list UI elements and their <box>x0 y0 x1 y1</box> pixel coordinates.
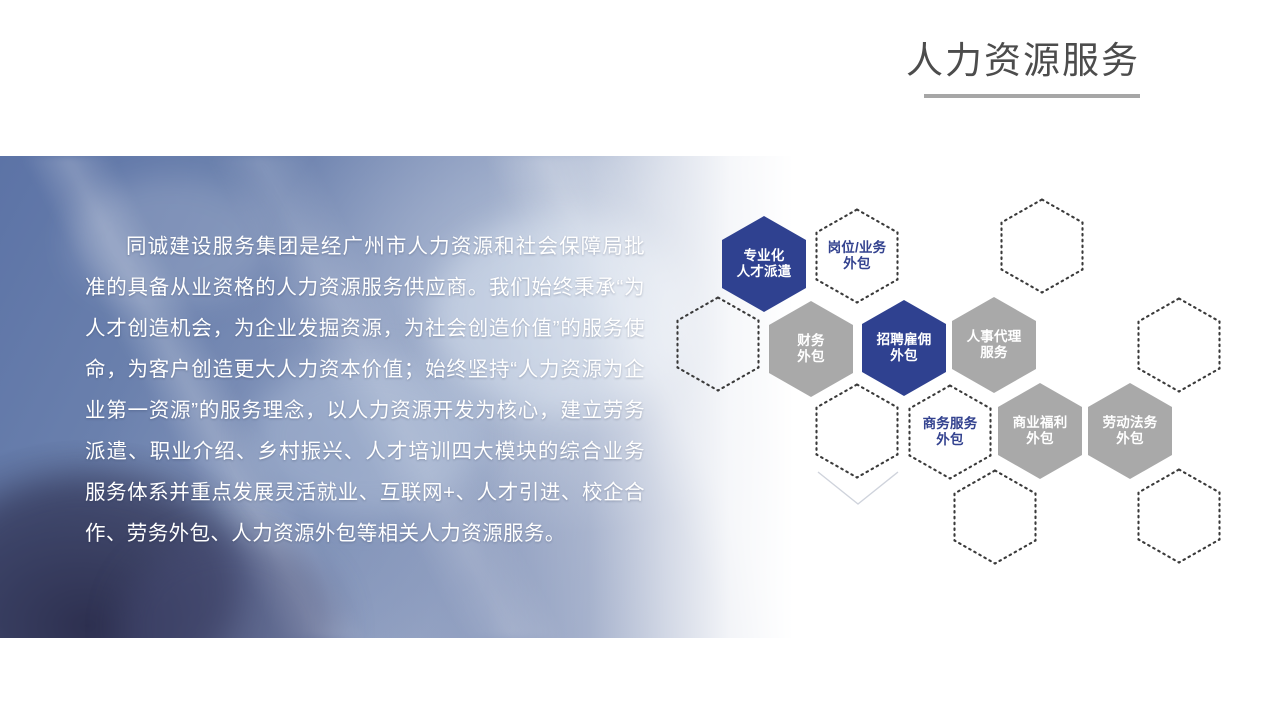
hexagon-label: 岗位/业务外包 <box>825 240 890 273</box>
hex-zhaopin-guyong-waibao[interactable]: 招聘雇佣外包 <box>862 300 946 396</box>
hexagon-label-line-2: 外包 <box>890 348 917 363</box>
hex-empty-top-right[interactable] <box>1000 198 1084 294</box>
hexagon-label-line-2: 外包 <box>936 432 963 447</box>
slide-canvas: 人力资源服务 同诚建设服务集团是经广州市人力资源和社会保障局批准的具备从业资格的… <box>0 0 1280 720</box>
hexagon-label: 商务服务外包 <box>920 416 981 449</box>
hexagon-label: 专业化人才派遣 <box>734 248 795 281</box>
hexagon-label-line-1: 专业化 <box>743 248 784 263</box>
hexagon-dotted-border <box>1137 468 1221 564</box>
hexagon-service-cluster: 岗位/业务外包商务服务外包专业化人才派遣财务外包招聘雇佣外包人事代理服务商业福利… <box>0 0 1280 720</box>
hexagon-dotted-border <box>953 469 1037 565</box>
hexagon-label-line-2: 外包 <box>797 349 824 364</box>
hexagon-dotted-border <box>676 296 760 392</box>
hexagon-label-line-1: 劳动法务 <box>1103 415 1158 430</box>
hexagon-label: 招聘雇佣外包 <box>874 332 935 365</box>
hexagon-dotted-border <box>815 383 899 479</box>
hexagon-label-line-2: 外包 <box>1116 431 1143 446</box>
hexagon-label: 劳动法务外包 <box>1100 415 1161 448</box>
hexagon-dotted-border <box>1000 198 1084 294</box>
hexagon-label-line-1: 商业福利 <box>1013 415 1068 430</box>
hexagon-label: 商业福利外包 <box>1010 415 1071 448</box>
hexagon-label-line-1: 人事代理 <box>967 329 1022 344</box>
hexagon-label-line-2: 外包 <box>1026 431 1053 446</box>
hexagon-label-line-2: 外包 <box>843 256 870 271</box>
hex-shangye-fuli-waibao[interactable]: 商业福利外包 <box>998 383 1082 479</box>
hex-empty-mid[interactable] <box>815 383 899 479</box>
hexagon-dotted-border <box>1137 297 1221 393</box>
hex-empty-bottom-mid[interactable] <box>953 469 1037 565</box>
hexagon-label-line-1: 招聘雇佣 <box>877 332 932 347</box>
hexagon-label-line-1: 岗位/业务 <box>828 240 887 255</box>
hex-gangwei-yewu-waibao[interactable]: 岗位/业务外包 <box>815 208 899 304</box>
hexagon-label-line-2: 人才派遣 <box>737 264 792 279</box>
hexagon-label-line-1: 商务服务 <box>923 416 978 431</box>
hex-laodong-fawu-waibao[interactable]: 劳动法务外包 <box>1088 383 1172 479</box>
hex-renshi-daili-fuwu[interactable]: 人事代理服务 <box>952 297 1036 393</box>
hex-empty-bottom-right[interactable] <box>1137 468 1221 564</box>
hexagon-label-line-2: 服务 <box>980 345 1007 360</box>
hex-empty-left[interactable] <box>676 296 760 392</box>
hex-empty-right[interactable] <box>1137 297 1221 393</box>
hexagon-label-line-1: 财务 <box>797 333 824 348</box>
hex-shangwu-fuwu-waibao[interactable]: 商务服务外包 <box>908 384 992 480</box>
hexagon-label: 财务外包 <box>794 333 827 366</box>
hexagon-label: 人事代理服务 <box>964 329 1025 362</box>
